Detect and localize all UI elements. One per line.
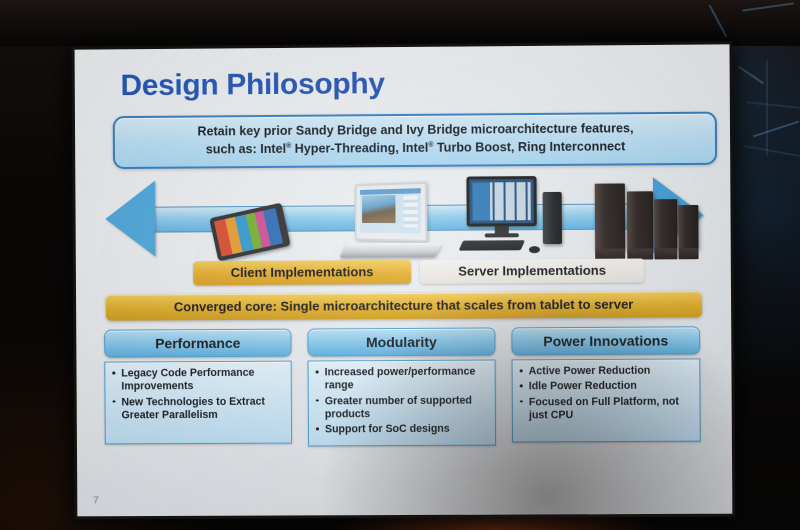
laptop-screen-photo — [362, 195, 395, 223]
stage-truss-beam — [738, 66, 764, 84]
left-arrow-icon — [105, 181, 155, 257]
laptop-screen-titlebar — [360, 188, 421, 195]
list-item: Support for SoC designs — [314, 423, 489, 437]
converged-core-bar: Converged core: Single microarchitecture… — [106, 291, 702, 321]
banner-line-2-part-a: such as: Intel — [206, 142, 286, 157]
device-continuum-diagram — [95, 163, 714, 267]
banner-line-2-part-c: Turbo Boost, Ring Interconnect — [433, 139, 625, 154]
panel-header-performance: Performance — [104, 329, 291, 358]
key-features-banner: Retain key prior Sandy Bridge and Ivy Br… — [113, 112, 717, 169]
client-implementations-label: Client Implementations — [193, 260, 411, 285]
stage-truss-beam — [744, 145, 799, 157]
laptop-screen-sidebar — [404, 195, 418, 227]
server-rack — [654, 199, 677, 249]
implementation-labels: Client Implementations Server Implementa… — [76, 258, 731, 288]
desktop-pc-image — [466, 176, 571, 261]
desktop-tower — [543, 192, 562, 244]
panel-performance: Performance Legacy Code Performance Impr… — [104, 329, 292, 445]
bullet-list: Legacy Code Performance Improvements New… — [110, 367, 285, 423]
bullet-list: Increased power/performance range Greate… — [314, 366, 489, 438]
panel-header-modularity: Modularity — [307, 327, 495, 356]
presentation-slide: Design Philosophy Retain key prior Sandy… — [75, 44, 733, 516]
laptop-lid — [355, 182, 428, 242]
laptop-device-image — [342, 183, 438, 260]
list-item: New Technologies to Extract Greater Para… — [110, 395, 285, 423]
list-item: Focused on Full Platform, not just CPU — [518, 395, 694, 423]
banner-line-2-part-b: Hyper-Threading, Intel — [291, 141, 428, 156]
laptop-keyboard-base — [339, 243, 442, 258]
desktop-monitor-screen — [469, 179, 533, 223]
desktop-screen-tiles — [472, 182, 530, 220]
list-item: Legacy Code Performance Improvements — [110, 367, 285, 395]
stage-truss-post — [766, 60, 768, 156]
server-racks-image — [595, 169, 704, 262]
server-rack — [595, 183, 626, 249]
panel-body-modularity: Increased power/performance range Greate… — [308, 359, 497, 446]
panel-body-performance: Legacy Code Performance Improvements New… — [104, 361, 292, 445]
stage-truss-beam — [753, 121, 799, 138]
keyboard-icon — [459, 240, 525, 250]
mouse-icon — [529, 246, 540, 253]
server-rack — [627, 191, 653, 249]
stage-truss-beam — [746, 101, 800, 109]
banner-line-2: such as: Intel® Hyper-Threading, Intel® … — [127, 138, 705, 160]
projection-screen: Design Philosophy Retain key prior Sandy… — [75, 44, 733, 516]
panel-body-power-innovations: Active Power Reduction Idle Power Reduct… — [512, 358, 701, 442]
ceiling-dark-band — [0, 0, 800, 46]
page-title: Design Philosophy — [120, 67, 384, 103]
list-item: Active Power Reduction — [518, 364, 694, 378]
server-implementations-label: Server Implementations — [420, 258, 645, 283]
list-item: Greater number of supported products — [314, 394, 489, 422]
feature-panels: Performance Legacy Code Performance Impr… — [104, 326, 705, 434]
panel-modularity: Modularity Increased power/performance r… — [307, 327, 496, 446]
laptop-screen — [360, 188, 421, 233]
monitor-foot — [485, 233, 519, 237]
desktop-monitor — [466, 176, 536, 227]
server-rack — [678, 205, 698, 249]
page-number: 7 — [93, 495, 99, 506]
list-item: Increased power/performance range — [314, 366, 489, 394]
panel-header-power-innovations: Power Innovations — [511, 326, 700, 355]
panel-power-innovations: Power Innovations Active Power Reduction… — [511, 326, 700, 442]
bullet-list: Active Power Reduction Idle Power Reduct… — [518, 364, 694, 422]
list-item: Idle Power Reduction — [518, 380, 694, 394]
